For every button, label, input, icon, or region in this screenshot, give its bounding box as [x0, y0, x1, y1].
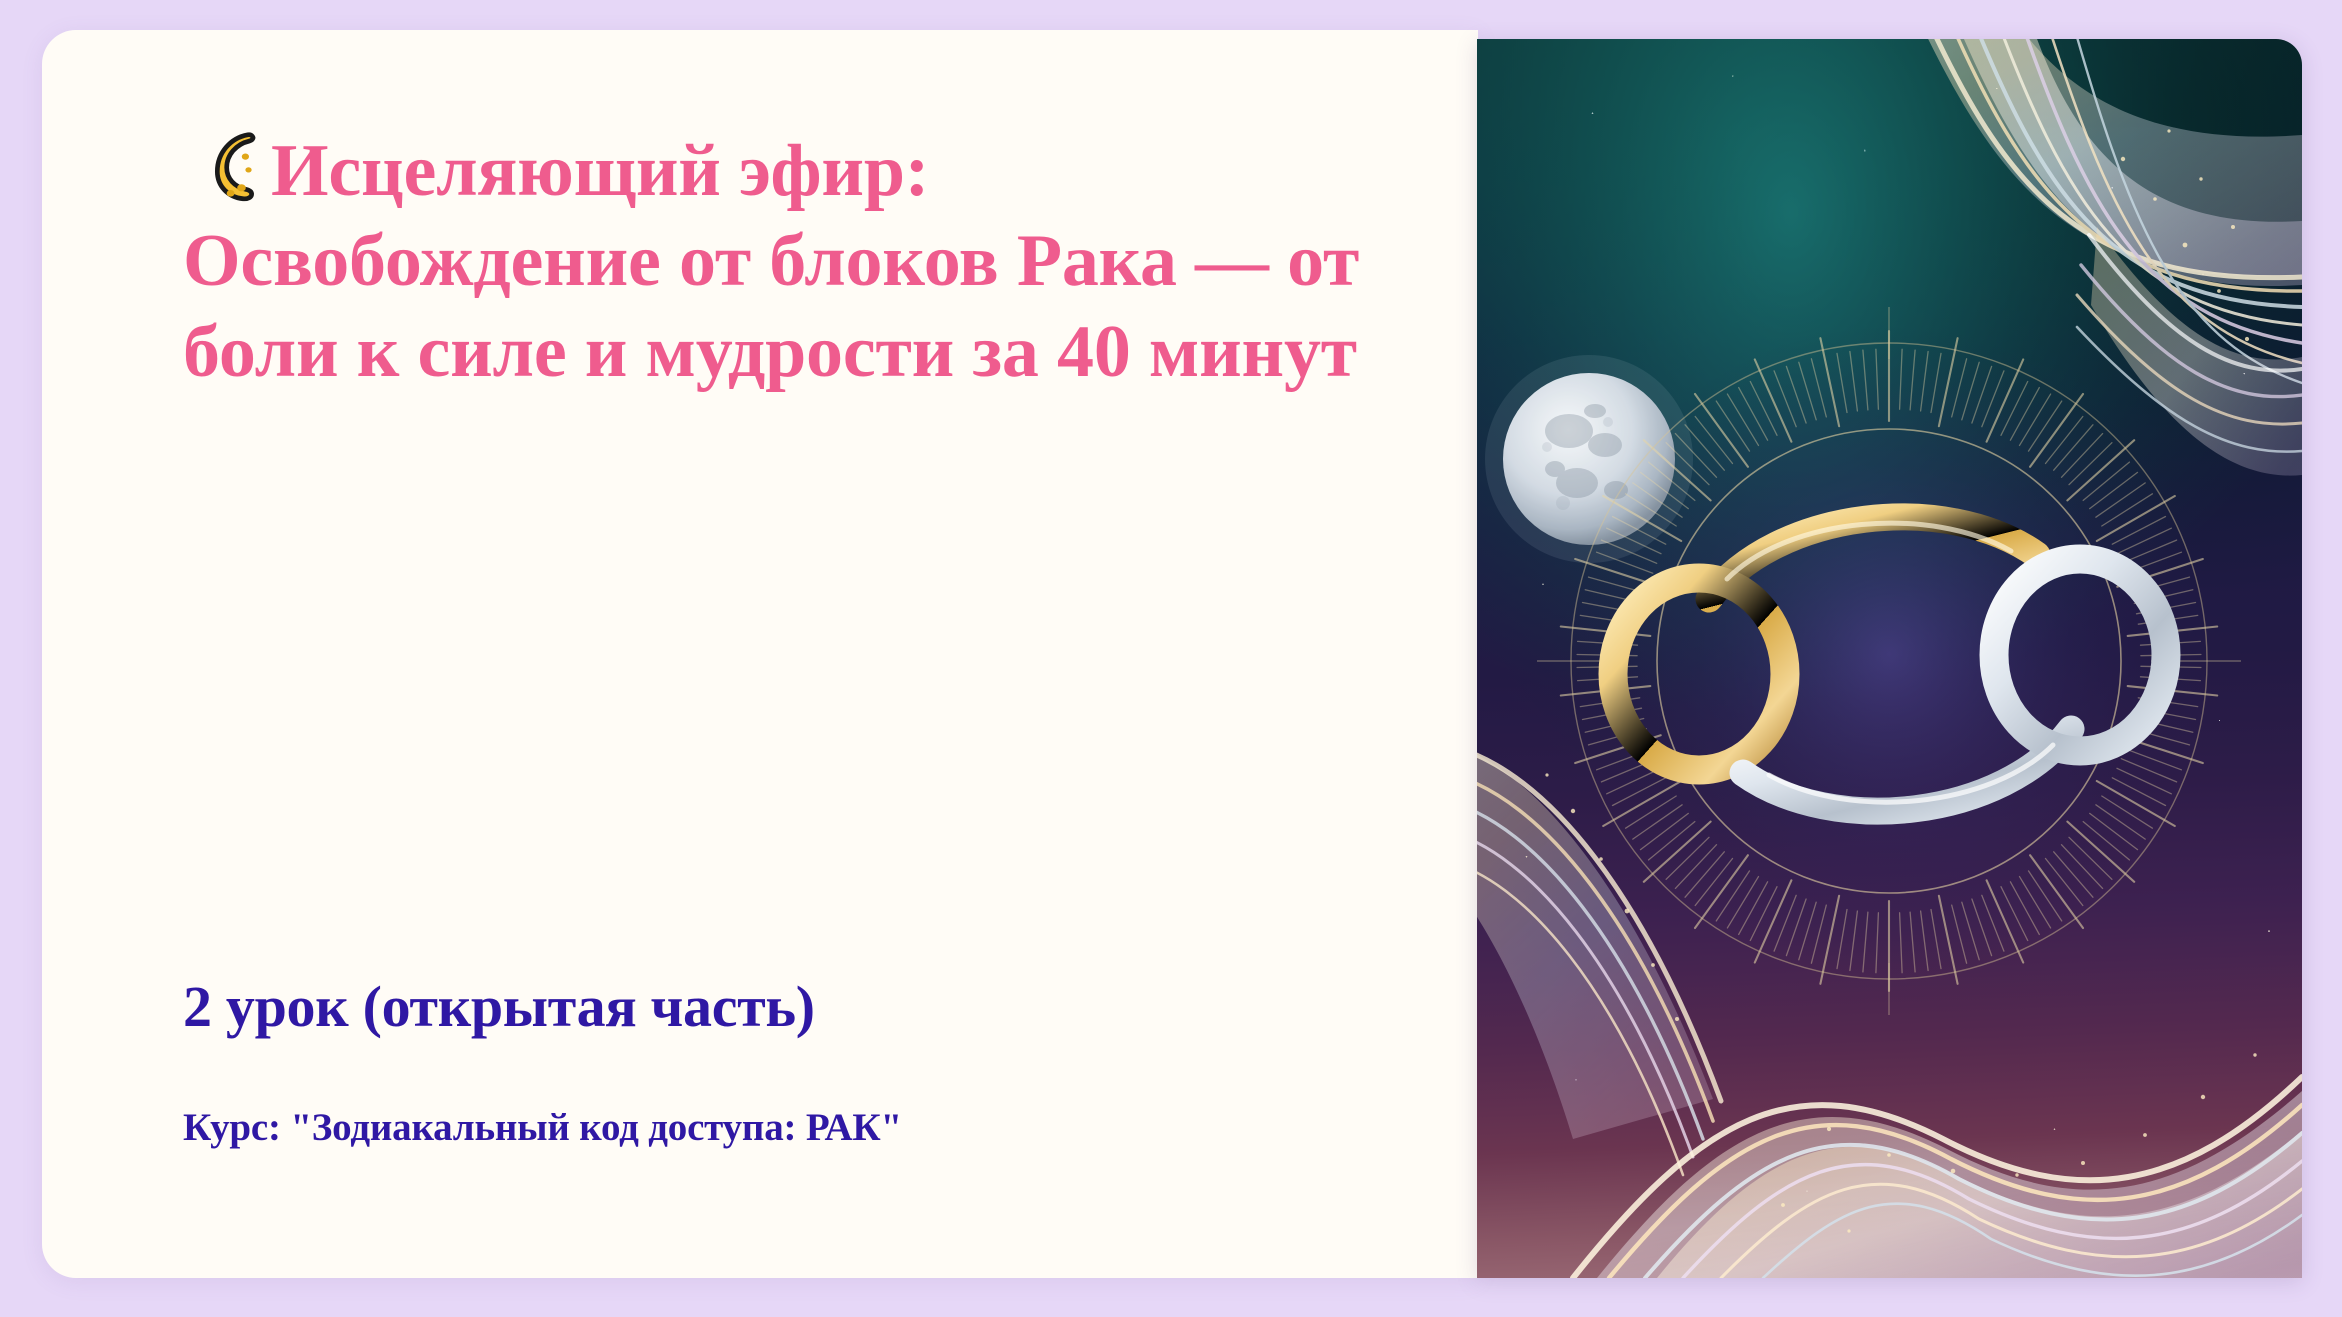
title-block: Исцеляющий эфир: Освобождение от блоков …	[183, 126, 1413, 397]
artwork-vector-layer	[1477, 39, 2302, 1278]
content-card: Исцеляющий эфир: Освобождение от блоков …	[42, 30, 1478, 1278]
crescent-moon-icon	[183, 127, 261, 205]
full-moon	[1485, 355, 1693, 563]
card-inner: Исцеляющий эфир: Освобождение от блоков …	[183, 30, 1438, 1278]
course-label: Курс: "Зодиакальный код доступа: РАК"	[183, 1104, 1433, 1153]
slide-root: Исцеляющий эфир: Освобождение от блоков …	[0, 0, 2342, 1317]
page-title-text: Исцеляющий эфир: Освобождение от блоков …	[183, 130, 1377, 393]
page-title: Исцеляющий эфир: Освобождение от блоков …	[183, 126, 1413, 397]
lesson-label: 2 урок (открытая часть)	[183, 972, 1433, 1042]
cancer-zodiac-artwork	[1477, 39, 2302, 1278]
lesson-block: 2 урок (открытая часть) Курс: "Зодиакаль…	[183, 972, 1433, 1152]
